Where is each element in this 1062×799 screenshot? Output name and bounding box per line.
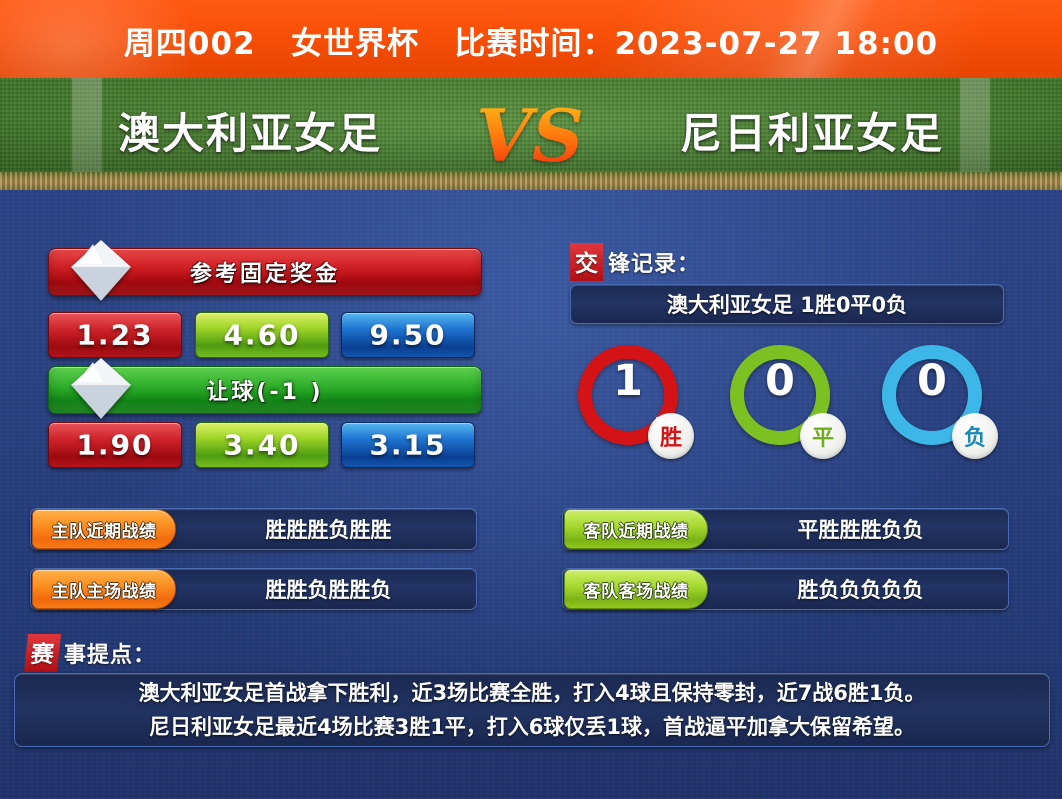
handicap-odds-home-value: 1.90 bbox=[49, 429, 181, 462]
h2h-draw-count: 0 bbox=[730, 359, 830, 403]
fixed-odds-home-button[interactable]: 1.23 bbox=[48, 312, 182, 358]
h2h-heading-text: 锋记录： bbox=[608, 246, 700, 278]
home-recent-record-label: 主队近期战绩 bbox=[52, 517, 157, 542]
page-title: 周四002 女世界杯 比赛时间：2023-07-27 18:00 bbox=[0, 18, 1062, 63]
h2h-ring-loss: 0 负 bbox=[882, 345, 982, 445]
h2h-summary-text: 澳大利亚女足 1胜0平0负 bbox=[571, 289, 1003, 319]
h2h-loss-label: 负 bbox=[964, 420, 986, 452]
h2h-summary-panel: 澳大利亚女足 1胜0平0负 bbox=[570, 284, 1004, 324]
home-recent-record-badge: 主队近期战绩 bbox=[32, 509, 176, 549]
away-away-record-value: 胜负负负负负 bbox=[713, 574, 1008, 604]
handicap-title-bar: 让球(-1 ) bbox=[48, 366, 482, 414]
away-recent-record-badge: 客队近期战绩 bbox=[564, 509, 708, 549]
h2h-draw-badge: 平 bbox=[800, 413, 846, 459]
h2h-ring-win: 1 胜 bbox=[578, 345, 678, 445]
handicap-odds-away-value: 3.15 bbox=[342, 429, 474, 462]
tips-box: 澳大利亚女足首战拿下胜利，近3场比赛全胜，打入4球且保持零封，近7战6胜1负。 … bbox=[14, 673, 1050, 747]
handicap-odds-home-button[interactable]: 1.90 bbox=[48, 422, 182, 468]
h2h-heading: 交 锋记录： bbox=[570, 243, 700, 281]
handicap-title: 让球(-1 ) bbox=[49, 374, 481, 406]
h2h-win-count: 1 bbox=[578, 359, 678, 403]
away-away-record-label: 客队客场战绩 bbox=[584, 577, 689, 602]
h2h-draw-label: 平 bbox=[812, 420, 834, 452]
home-home-record-value: 胜胜负胜胜负 bbox=[181, 574, 476, 604]
header-bar: 周四002 女世界杯 比赛时间：2023-07-27 18:00 bbox=[0, 0, 1062, 78]
handicap-title-prefix: 让球( bbox=[206, 380, 269, 405]
h2h-loss-badge: 负 bbox=[952, 413, 998, 459]
h2h-ring-draw: 0 平 bbox=[730, 345, 830, 445]
fixed-odds-away-value: 9.50 bbox=[342, 319, 474, 352]
vs-flame-icon: VS bbox=[470, 86, 590, 192]
home-team-name: 澳大利亚女足 bbox=[40, 100, 460, 161]
handicap-odds-draw-button[interactable]: 3.40 bbox=[195, 422, 329, 468]
away-team-name: 尼日利亚女足 bbox=[602, 100, 1022, 161]
h2h-win-label: 胜 bbox=[660, 420, 682, 452]
home-home-record-label: 主队主场战绩 bbox=[52, 577, 157, 602]
tips-heading-text: 事提点： bbox=[64, 637, 156, 669]
handicap-title-value: -1 bbox=[269, 380, 299, 405]
handicap-odds-away-button[interactable]: 3.15 bbox=[341, 422, 475, 468]
fixed-odds-title-bar: 参考固定奖金 bbox=[48, 248, 482, 296]
tips-line-2: 尼日利亚女足最近4场比赛3胜1平，打入6球仅丢1球，首战逼平加拿大保留希望。 bbox=[149, 710, 915, 744]
fixed-odds-title: 参考固定奖金 bbox=[49, 256, 481, 288]
home-recent-record-value: 胜胜胜负胜胜 bbox=[181, 514, 476, 544]
fixed-odds-home-value: 1.23 bbox=[49, 319, 181, 352]
tips-line-1: 澳大利亚女足首战拿下胜利，近3场比赛全胜，打入4球且保持零封，近7战6胜1负。 bbox=[138, 676, 925, 710]
tips-heading-badge: 赛 bbox=[24, 634, 61, 672]
h2h-heading-badge: 交 bbox=[570, 243, 603, 281]
fixed-odds-draw-button[interactable]: 4.60 bbox=[195, 312, 329, 358]
away-recent-record-label: 客队近期战绩 bbox=[584, 517, 689, 542]
tips-heading: 赛 事提点： bbox=[26, 634, 156, 672]
h2h-loss-count: 0 bbox=[882, 359, 982, 403]
handicap-odds-draw-value: 3.40 bbox=[196, 429, 328, 462]
fixed-odds-draw-value: 4.60 bbox=[196, 319, 328, 352]
handicap-title-suffix: ) bbox=[300, 380, 324, 405]
h2h-win-badge: 胜 bbox=[648, 413, 694, 459]
fixed-odds-away-button[interactable]: 9.50 bbox=[341, 312, 475, 358]
home-home-record-badge: 主队主场战绩 bbox=[32, 569, 176, 609]
away-recent-record-value: 平胜胜胜负负 bbox=[713, 514, 1008, 544]
away-away-record-badge: 客队客场战绩 bbox=[564, 569, 708, 609]
match-preview-graphic: 周四002 女世界杯 比赛时间：2023-07-27 18:00 澳大利亚女足 … bbox=[0, 0, 1062, 799]
